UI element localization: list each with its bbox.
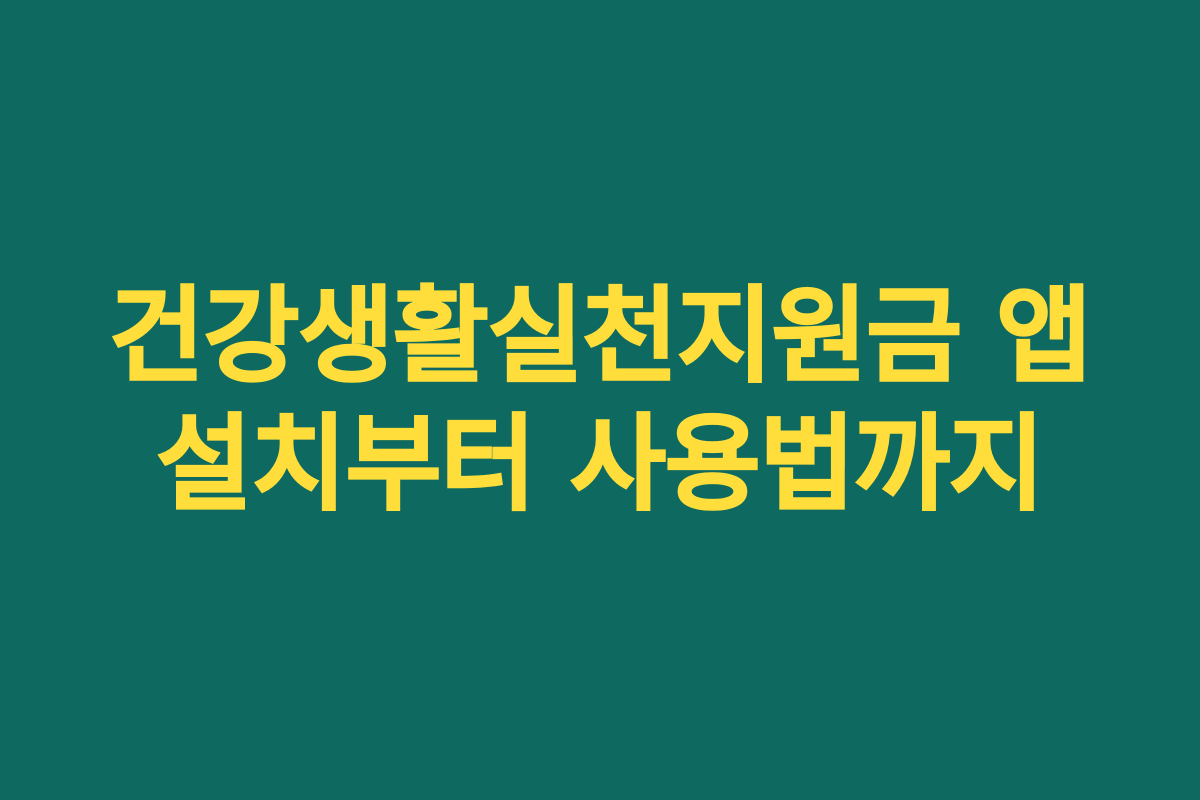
headline-line-2-text: 설치부터 사용법까지 [156, 403, 1043, 525]
headline-line-2: 설치부터 사용법까지 [0, 400, 1200, 528]
title-banner: 건강생활실천지원금 앱 설치부터 사용법까지 [0, 0, 1200, 800]
headline-line-1: 건강생활실천지원금 앱 [0, 272, 1200, 400]
page-title: 건강생활실천지원금 앱 설치부터 사용법까지 [0, 272, 1200, 528]
headline-line-1-text: 건강생활실천지원금 앱 [109, 275, 1091, 397]
